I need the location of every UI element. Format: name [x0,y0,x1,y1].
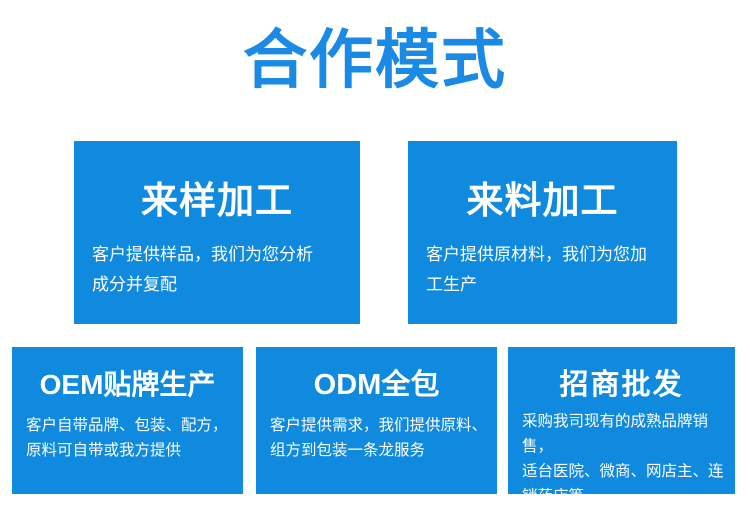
card-body: 客户提供原材料，我们为您加 工生产 [426,240,663,300]
card-body-line: 工生产 [426,270,663,300]
card-oem[interactable]: OEM贴牌生产 客户自带品牌、包装、配方， 原料可自带或我方提供 [12,347,243,494]
card-body-line: 成分并复配 [92,270,346,300]
card-heading: 招商批发 [508,367,735,403]
card-heading: OEM贴牌生产 [12,367,243,403]
page-title: 合作模式 [0,14,750,106]
card-lai-liao-jia-gong[interactable]: 来料加工 客户提供原材料，我们为您加 工生产 [408,141,677,324]
card-heading: 来样加工 [74,179,360,223]
card-body-line: 原料可自带或我方提供 [26,438,233,463]
card-body: 客户提供样品，我们为您分析 成分并复配 [92,240,346,300]
card-body-line: 客户提供原材料，我们为您加 [426,240,663,270]
card-body-line: 客户自带品牌、包装、配方， [26,413,233,438]
card-lai-yang-jia-gong[interactable]: 来样加工 客户提供样品，我们为您分析 成分并复配 [74,141,360,324]
card-body-line: 客户提供需求，我们提供原料、 [270,413,487,438]
card-zhao-shang-pi-fa[interactable]: 招商批发 采购我司现有的成熟品牌销售， 适台医院、微商、网店主、连 销药店等 [508,347,735,494]
card-body: 客户自带品牌、包装、配方， 原料可自带或我方提供 [26,413,233,463]
card-body-line: 销药店等 [522,484,725,494]
card-body: 采购我司现有的成熟品牌销售， 适台医院、微商、网店主、连 销药店等 [522,409,725,494]
card-body-line: 采购我司现有的成熟品牌销售， [522,409,725,459]
card-heading: 来料加工 [408,179,677,223]
card-heading: ODM全包 [256,367,497,403]
card-body-line: 客户提供样品，我们为您分析 [92,240,346,270]
card-odm[interactable]: ODM全包 客户提供需求，我们提供原料、 组方到包装一条龙服务 [256,347,497,494]
card-body-line: 组方到包装一条龙服务 [270,438,487,463]
card-body: 客户提供需求，我们提供原料、 组方到包装一条龙服务 [270,413,487,463]
poster-root: 合作模式 来样加工 客户提供样品，我们为您分析 成分并复配 来料加工 客户提供原… [0,0,750,517]
card-body-line: 适台医院、微商、网店主、连 [522,459,725,484]
